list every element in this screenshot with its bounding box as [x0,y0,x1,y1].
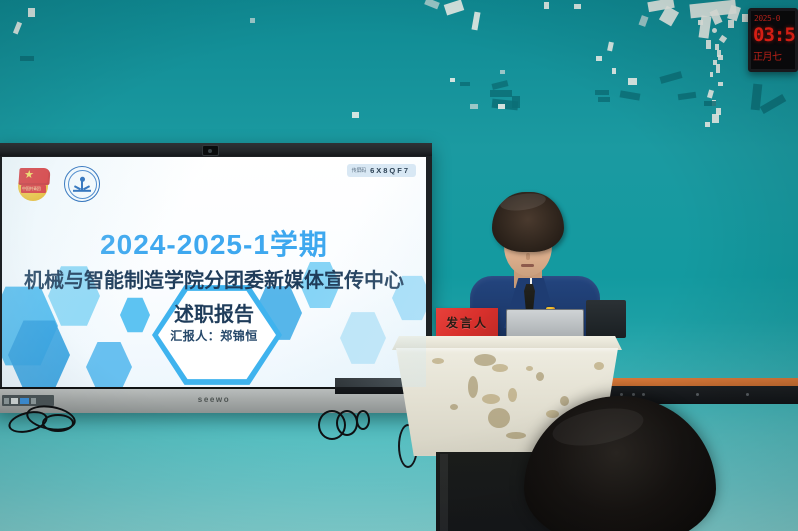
laptop-on-lectern[interactable] [506,309,584,339]
slide-subtitle-line1: 机械与智能制造学院分团委新媒体宣传中心 [2,264,426,293]
interactive-smart-board[interactable]: 传屏码 6X8QF7 2024-2025-1学期 机械与智能制造学院分团委新媒体… [0,143,432,413]
clock-time: 03:5 [753,24,795,46]
lectern-base-highlight [440,454,448,531]
clock-lunar-date: 正月七 [753,48,782,63]
cast-code-label: 传屏码 [352,167,366,174]
university-seal-icon [64,166,100,202]
led-wall-clock: 2025-0 03:5 正月七 [748,8,798,72]
board-brand-label: seewo [198,395,230,404]
slide-subtitle-line2: 述职报告 [2,298,426,327]
camera-icon [202,145,219,156]
photo-scene: 传屏码 6X8QF7 2024-2025-1学期 机械与智能制造学院分团委新媒体… [0,0,798,531]
screen-cast-code-chip: 传屏码 6X8QF7 [347,164,416,177]
speaker-sign: 发言人 [436,308,498,336]
monitor-on-desk[interactable] [586,300,626,338]
presentation-slide[interactable]: 传屏码 6X8QF7 2024-2025-1学期 机械与智能制造学院分团委新媒体… [2,157,426,387]
cast-code-value: 6X8QF7 [370,166,410,175]
slide-title: 2024-2025-1学期 [2,223,426,263]
slide-logos [16,166,100,202]
clock-date: 2025-0 [754,14,780,23]
communist-youth-league-emblem-icon [16,167,52,201]
hair [492,192,564,252]
slide-presenter-name: 汇报人：郑锦恒 [2,327,426,344]
speaker-sign-label: 发言人 [446,314,488,331]
lectern-top-edge [392,336,622,350]
